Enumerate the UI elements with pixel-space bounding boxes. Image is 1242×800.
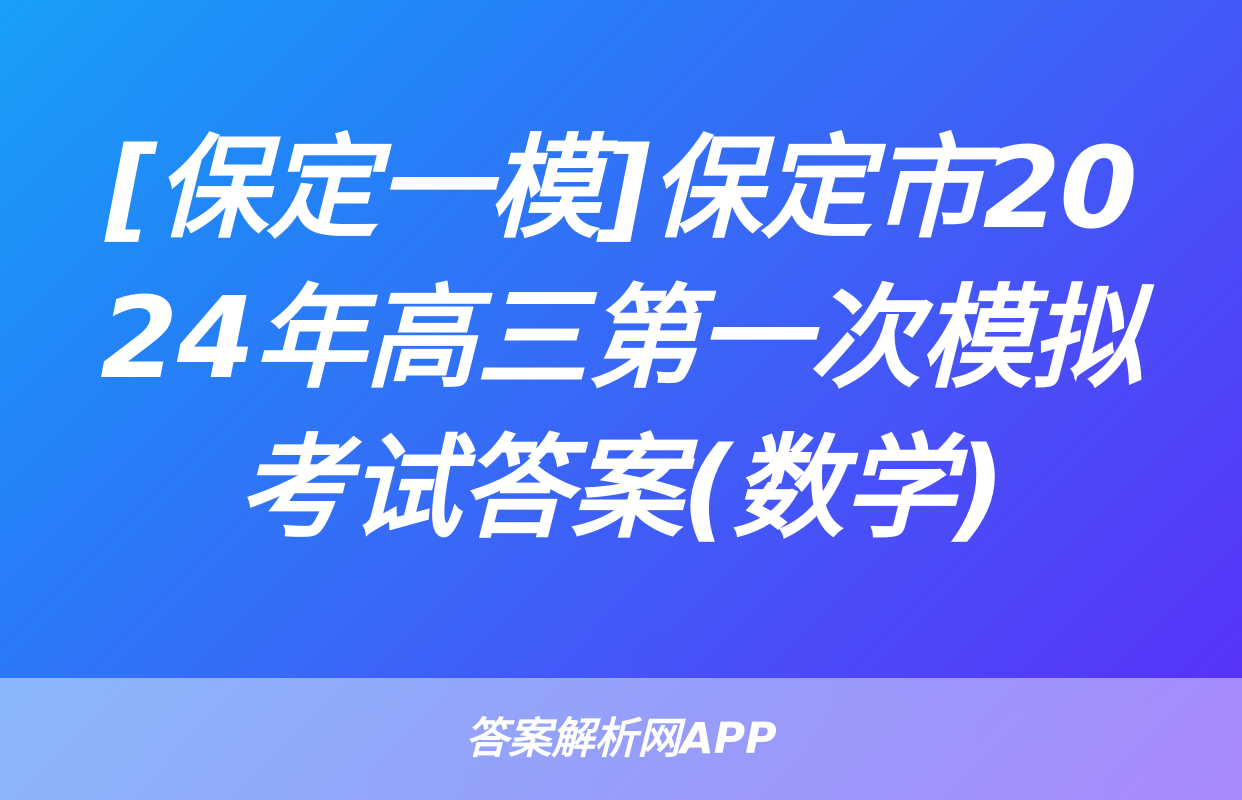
page-title: [保定一模]保定市2024年高三第一次模拟考试答案(数学): [78, 114, 1164, 564]
title-container: [保定一模]保定市2024年高三第一次模拟考试答案(数学): [0, 0, 1242, 678]
footer-band: 答案解析网APP: [0, 678, 1242, 800]
title-card: [保定一模]保定市2024年高三第一次模拟考试答案(数学) 答案解析网APP: [0, 0, 1242, 800]
app-name-label: 答案解析网APP: [465, 718, 776, 761]
